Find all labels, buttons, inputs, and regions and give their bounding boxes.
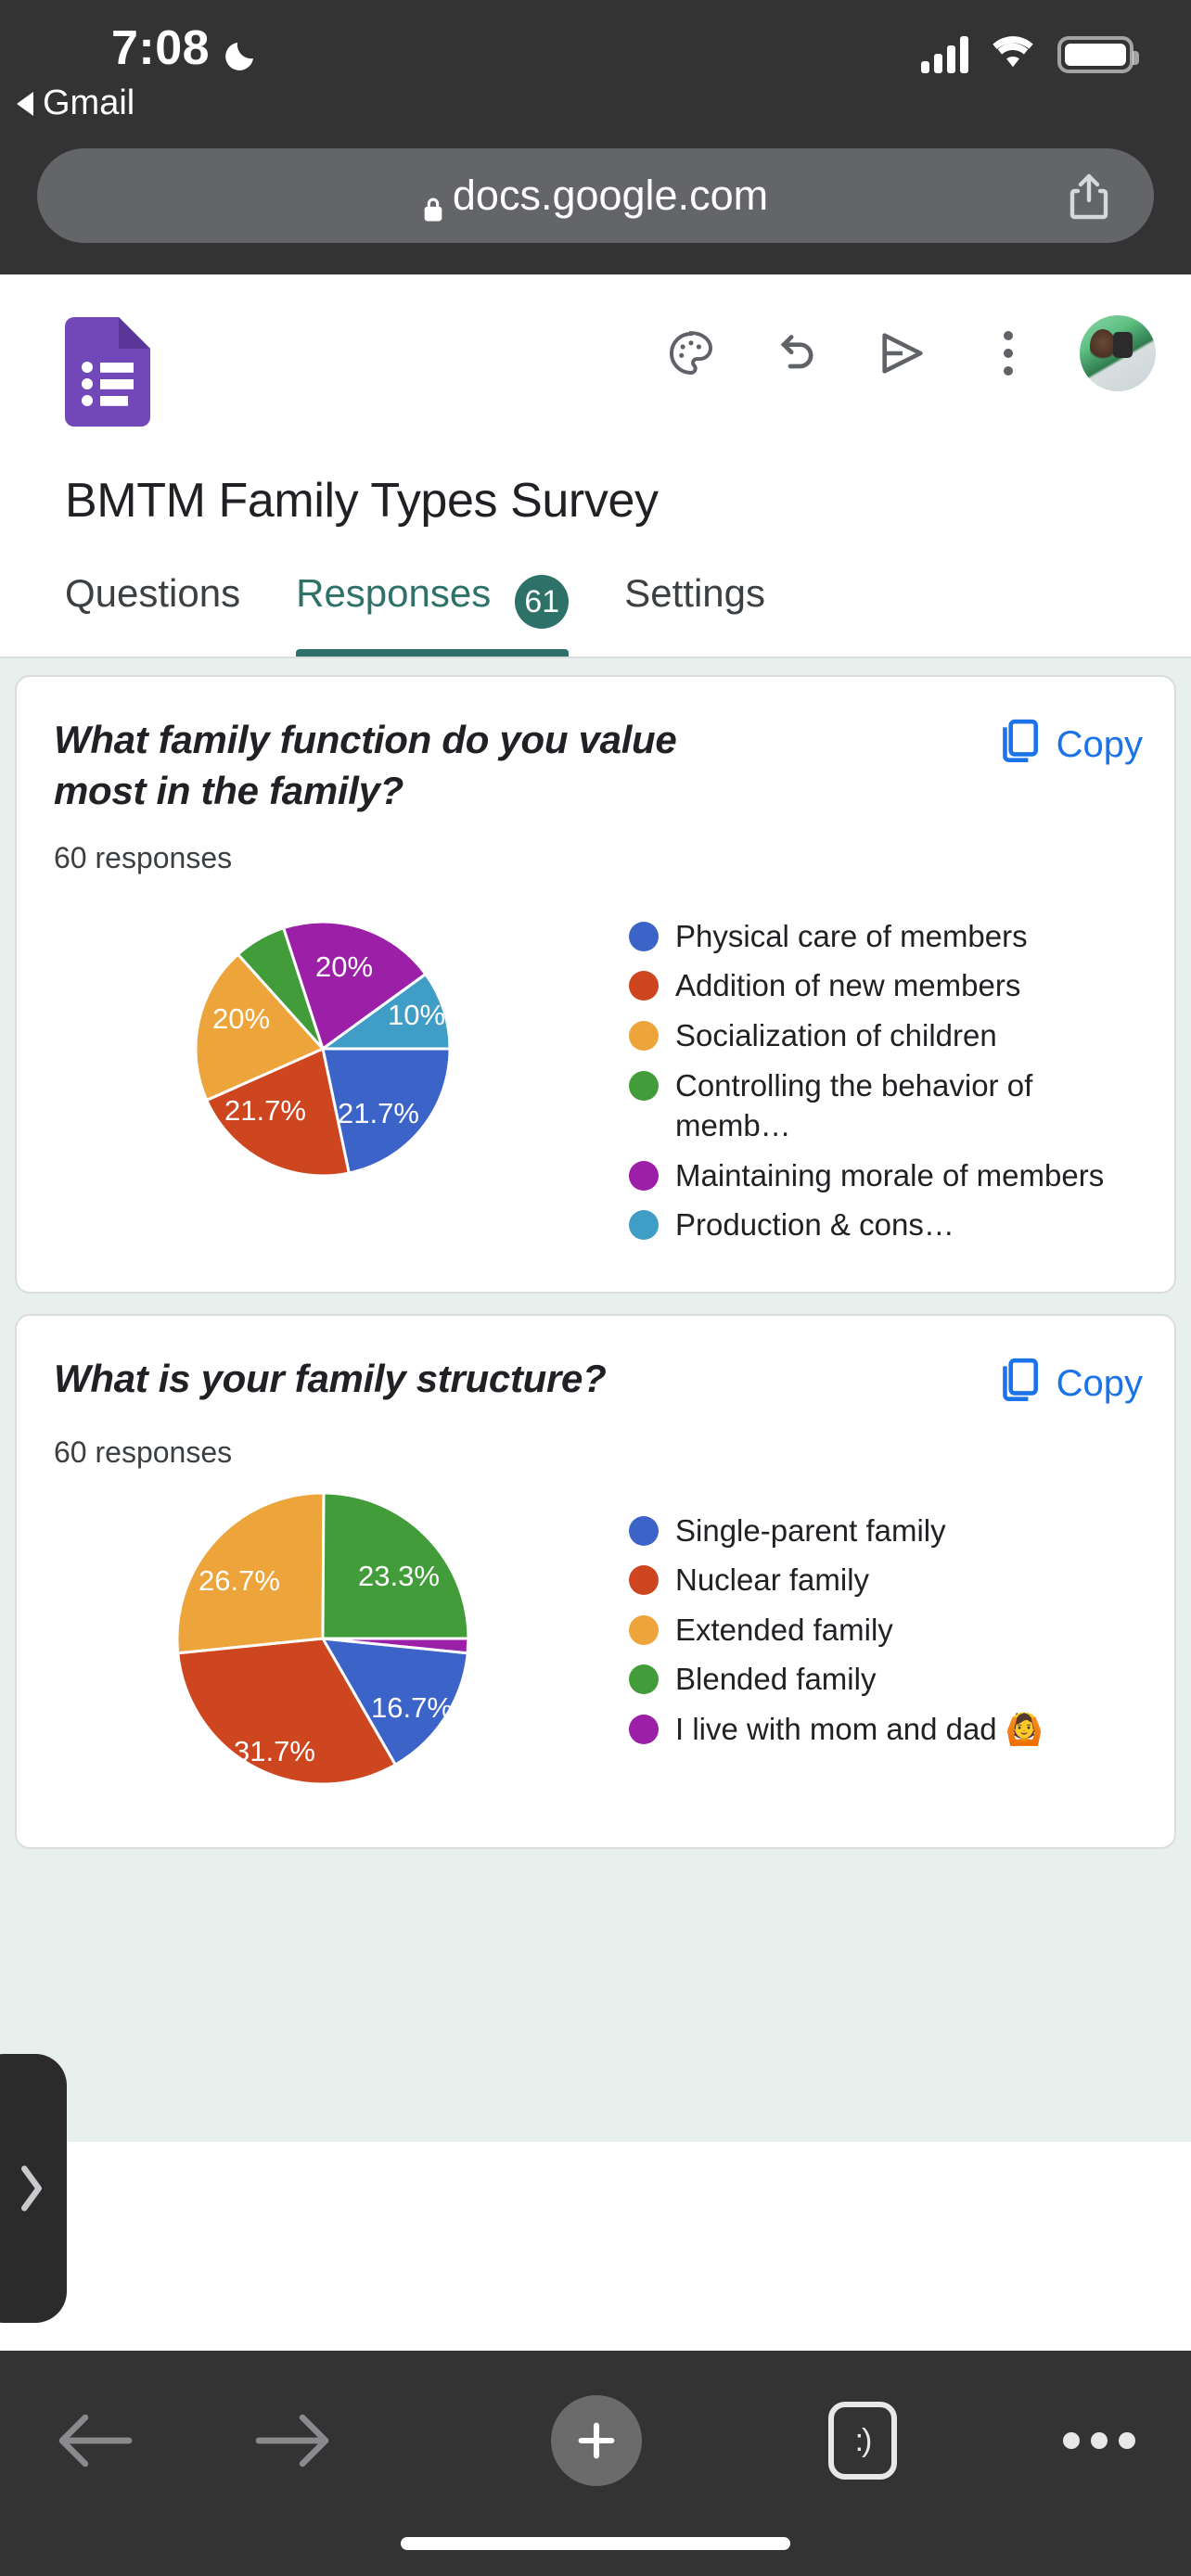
battery-full-icon	[1057, 36, 1133, 73]
card-header: What family function do you value most i…	[17, 677, 1174, 817]
forms-tabs: Questions Responses 61 Settings	[0, 569, 1191, 657]
legend-item: Physical care of members	[629, 916, 1174, 957]
address-bar-url-group: docs.google.com	[423, 172, 768, 220]
legend-item: I live with mom and dad 🙆	[629, 1709, 1174, 1750]
legend-color-dot	[629, 1715, 659, 1744]
pie-slice-label: 20%	[315, 950, 373, 983]
response-count: 60 responses	[17, 817, 1174, 875]
legend-item: Extended family	[629, 1610, 1174, 1651]
tab-responses-label: Responses	[296, 571, 491, 636]
tab-settings[interactable]: Settings	[624, 571, 765, 657]
back-to-app-link[interactable]: Gmail	[17, 83, 134, 123]
forward-button[interactable]	[241, 2390, 343, 2492]
response-card: What is your family structure? Copy 60 r…	[15, 1314, 1176, 1849]
triangle-left-icon	[17, 92, 33, 116]
response-card: What family function do you value most i…	[15, 675, 1176, 1294]
legend-color-dot	[629, 1071, 659, 1101]
chevron-right-icon	[17, 2163, 46, 2213]
user-avatar[interactable]	[1080, 315, 1156, 391]
address-bar-url: docs.google.com	[453, 172, 768, 220]
legend-item: Blended family	[629, 1659, 1174, 1700]
pie-slice-label: 20%	[212, 1002, 270, 1035]
copy-label: Copy	[1057, 724, 1143, 766]
tab-questions[interactable]: Questions	[65, 571, 240, 657]
forms-toolbar-actions	[657, 315, 1156, 391]
tabs-icon: :)	[828, 2402, 897, 2480]
forms-toolbar	[0, 274, 1191, 440]
legend-color-dot	[629, 1565, 659, 1595]
legend-label: Socialization of children	[675, 1015, 997, 1056]
legend-label: I live with mom and dad 🙆	[675, 1709, 1044, 1750]
pie-slice-label: 26.7%	[198, 1564, 280, 1597]
tab-settings-label: Settings	[624, 571, 765, 636]
plus-icon	[551, 2395, 642, 2486]
legend-color-dot	[629, 971, 659, 1001]
legend-item: Addition of new members	[629, 965, 1174, 1006]
legend-label: Maintaining morale of members	[675, 1155, 1104, 1196]
question-title: What family function do you value most i…	[54, 714, 759, 817]
pie-slice-label: 31.7%	[234, 1735, 315, 1767]
pie-slice-label: 21.7%	[338, 1097, 419, 1129]
browser-viewport: BMTM Family Types Survey Questions Respo…	[0, 274, 1191, 2351]
copy-to-sheet-icon	[995, 718, 1042, 772]
legend-color-dot	[629, 1161, 659, 1191]
legend-label: Production & cons…	[675, 1205, 954, 1245]
legend-label: Addition of new members	[675, 965, 1020, 1006]
legend-label: Physical care of members	[675, 916, 1028, 957]
copy-to-sheets-button[interactable]: Copy	[995, 1353, 1143, 1411]
legend-item: Production & cons…	[629, 1205, 1174, 1245]
legend-item: Maintaining morale of members	[629, 1155, 1174, 1196]
pie-slice-label: 21.7%	[224, 1094, 306, 1127]
legend-label: Blended family	[675, 1659, 876, 1700]
send-icon[interactable]	[868, 319, 937, 388]
legend-color-dot	[629, 1021, 659, 1051]
legend-color-dot	[629, 922, 659, 951]
cellular-signal-icon	[921, 36, 968, 73]
pie-chart-2-svg: 16.7% 31.7% 26.7% 23.3%	[17, 1490, 629, 1805]
pie-slice-label: 16.7%	[371, 1691, 453, 1724]
card-header: What is your family structure? Copy	[17, 1316, 1174, 1411]
legend-label: Single-parent family	[675, 1511, 946, 1551]
legend-label: Extended family	[675, 1610, 893, 1651]
new-tab-button[interactable]	[545, 2390, 647, 2492]
legend-item: Socialization of children	[629, 1015, 1174, 1056]
copy-to-sheet-icon	[995, 1357, 1042, 1411]
status-bar-time: 7:08	[111, 20, 210, 76]
chart-area: 16.7% 31.7% 26.7% 23.3% Single-parent fa…	[17, 1470, 1174, 1847]
crescent-moon-icon	[221, 32, 258, 69]
pie-chart-2[interactable]: 16.7% 31.7% 26.7% 23.3%	[17, 1490, 629, 1810]
share-icon[interactable]	[1069, 172, 1109, 221]
legend-item: Nuclear family	[629, 1560, 1174, 1600]
status-bar-indicators	[921, 33, 1133, 75]
undo-icon[interactable]	[762, 319, 831, 388]
legend-item: Single-parent family	[629, 1511, 1174, 1551]
status-bar-time-group: 7:08	[111, 20, 258, 76]
pie-chart-1-svg: 21.7% 21.7% 20% 20% 10%	[17, 896, 629, 1202]
tabs-button[interactable]: :)	[812, 2390, 914, 2492]
page-title: BMTM Family Types Survey	[65, 473, 1191, 529]
wifi-icon	[989, 33, 1037, 75]
legend-label: Controlling the behavior of memb…	[675, 1065, 1111, 1146]
response-count: 60 responses	[17, 1411, 1174, 1470]
browser-toolbar-icons: :)	[0, 2390, 1191, 2492]
more-horizontal-icon	[1063, 2432, 1135, 2449]
chart-area: 21.7% 21.7% 20% 20% 10% Physical care of…	[17, 875, 1174, 1292]
legend-item: Controlling the behavior of memb…	[629, 1065, 1174, 1146]
ios-status-bar: 7:08 Gmail	[0, 0, 1191, 130]
address-bar[interactable]: docs.google.com	[37, 148, 1154, 243]
back-button[interactable]	[45, 2390, 147, 2492]
copy-label: Copy	[1057, 1363, 1143, 1405]
back-to-app-label: Gmail	[43, 83, 134, 123]
legend-label: Nuclear family	[675, 1560, 869, 1600]
browser-bottom-toolbar: :)	[0, 2351, 1191, 2576]
pie-slice-label: 10%	[388, 999, 445, 1031]
home-indicator	[401, 2537, 790, 2550]
legend-color-dot	[629, 1664, 659, 1694]
legend-color-dot	[629, 1210, 659, 1240]
question-title: What is your family structure?	[54, 1353, 606, 1404]
lock-icon	[423, 185, 443, 210]
palette-icon[interactable]	[657, 319, 725, 388]
tab-active-underline	[296, 649, 569, 657]
phone-screen: 7:08 Gmail	[0, 0, 1191, 2576]
copy-to-sheets-button[interactable]: Copy	[995, 714, 1143, 772]
edge-drawer-handle[interactable]	[0, 2054, 67, 2323]
tab-responses[interactable]: Responses 61	[296, 571, 569, 657]
google-forms-icon[interactable]	[65, 317, 150, 427]
tabs-face-label: :)	[855, 2423, 871, 2459]
pie-slice-label: 23.3%	[358, 1560, 440, 1592]
pie-chart-1-legend: Physical care of members Addition of new…	[629, 896, 1174, 1255]
tab-questions-label: Questions	[65, 571, 240, 636]
responses-summary-body: What family function do you value most i…	[0, 658, 1191, 2142]
legend-color-dot	[629, 1615, 659, 1645]
responses-count-badge: 61	[515, 575, 569, 629]
more-button[interactable]	[1048, 2390, 1150, 2492]
pie-chart-2-legend: Single-parent family Nuclear family Exte…	[629, 1490, 1174, 1759]
legend-color-dot	[629, 1516, 659, 1546]
kebab-menu-icon[interactable]	[974, 319, 1043, 388]
pie-chart-1[interactable]: 21.7% 21.7% 20% 20% 10%	[17, 896, 629, 1206]
